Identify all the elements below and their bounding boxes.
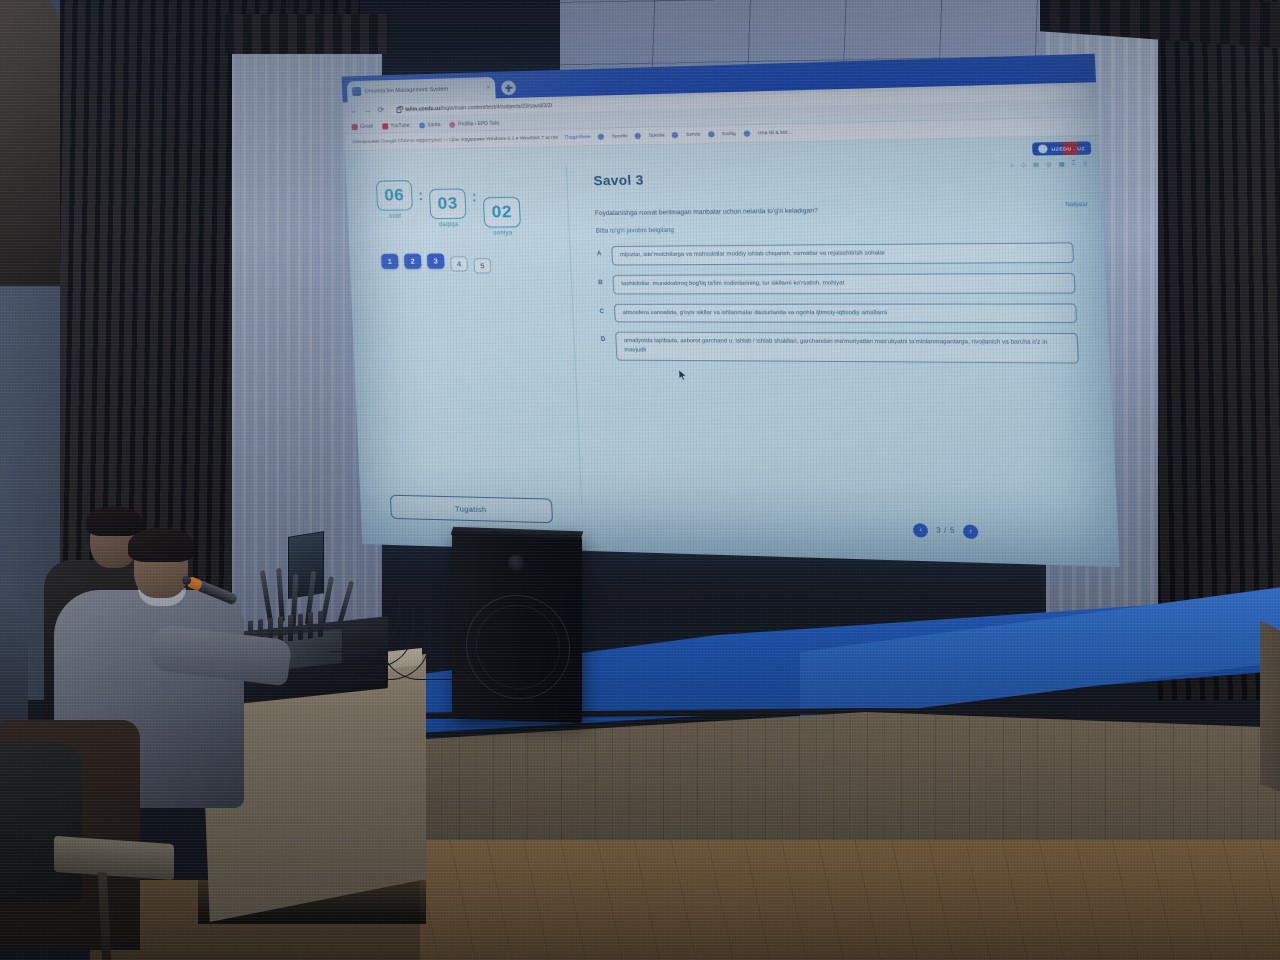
fader: [308, 612, 313, 639]
xarita-icon: [419, 122, 425, 128]
bell-icon[interactable]: ◇: [1021, 162, 1026, 169]
stage-right-return: [1260, 604, 1280, 814]
person-behind-hair: [86, 506, 142, 536]
option-key: B: [598, 275, 605, 286]
fader: [318, 611, 323, 638]
tab-title: Umumta'lim Management System: [365, 85, 483, 94]
quiz-sidebar: 06 soat : 03 daqiqa : 02 soniya: [345, 147, 583, 551]
user-icon[interactable]: ◎: [1046, 161, 1052, 168]
bookmark-label: YouTube: [390, 122, 410, 128]
question-pagination: ‹ 3 / 5 ›: [913, 523, 978, 539]
timer-minutes: 03 daqiqa: [429, 188, 467, 228]
timer-seconds-label: soniya: [493, 230, 512, 236]
results-link[interactable]: Natijalar: [1065, 202, 1088, 209]
bookmark-label: Gmail: [360, 123, 373, 129]
grid-icon[interactable]: ▦: [1059, 161, 1065, 168]
question-navigator: 1 2 3 4 5: [381, 252, 571, 273]
question-nav-2[interactable]: 2: [404, 254, 422, 269]
prev-question-button[interactable]: ‹: [913, 523, 928, 537]
browser-tab[interactable]: Umumta'lim Management System ×: [347, 77, 496, 102]
bookmark-extra-icon: [635, 133, 642, 139]
question-nav-4[interactable]: 4: [450, 256, 468, 271]
back-icon[interactable]: ←: [350, 107, 358, 115]
question-text: Foydalanishga ruxsat berilmagan manbalar…: [595, 203, 1060, 218]
infobar-link[interactable]: Подробнее: [565, 134, 591, 140]
close-icon[interactable]: ×: [486, 85, 490, 91]
timer-seconds: 02 soniya: [483, 197, 522, 237]
youtube-icon: [382, 123, 388, 129]
bookmark-label: Prolfila i EPD Tahr.: [458, 120, 501, 127]
bookmark-maps[interactable]: Xarita: [419, 122, 441, 129]
auditorium-scene: Umumta'lim Management System × ← → ⟳ tal…: [0, 0, 1280, 960]
question-hint: Bitta to'g'ri javobni belgilang: [596, 224, 1073, 235]
option-c[interactable]: C atmosfera sanoatida, g'oyiv sikllar va…: [599, 303, 1077, 323]
pa-speaker: [452, 531, 582, 724]
curtain-valance-left: [225, 14, 390, 54]
fader: [298, 613, 303, 640]
question-nav-1[interactable]: 1: [381, 254, 399, 269]
bookmark-extra-icon: [598, 134, 605, 140]
bookmark-label: Xarita: [427, 122, 440, 128]
page-toolbar: ⌂ ◇ ▤ ◎ ▦ ⌶ ⇩: [1010, 160, 1088, 169]
gmail-icon: [352, 124, 358, 130]
profile-icon: [449, 121, 455, 127]
infobar-extra[interactable]: Sportiv: [612, 134, 628, 140]
foreground-object: [0, 742, 82, 902]
option-a[interactable]: A mijozlar, iste'molchilarga va mahsulot…: [597, 243, 1075, 266]
question-panel: UZEDU . UZ ⌂ ◇ ▤ ◎ ▦ ⌶ ⇩ Natijalar Savol…: [565, 136, 1120, 567]
timer-hours-value: 06: [376, 180, 413, 211]
brand-text: UZEDU . UZ: [1051, 145, 1085, 151]
mic-stand: [260, 570, 273, 624]
brand-logo-icon: [1038, 144, 1048, 153]
timer-separator: :: [418, 187, 424, 204]
projection-screen: Umumta'lim Management System × ← → ⟳ tal…: [342, 54, 1120, 567]
mouse-cursor: [678, 369, 687, 381]
timer-hours-label: soat: [389, 213, 401, 219]
favicon-icon: [352, 87, 361, 96]
projected-browser-window: Umumta'lim Management System × ← → ⟳ tal…: [342, 54, 1120, 567]
wooden-floor: [330, 840, 1280, 960]
infobar-extra[interactable]: Ona tili & kor…: [757, 130, 793, 136]
option-d[interactable]: D amaliyotda tajribada, axborot garchand…: [600, 332, 1079, 363]
forward-icon[interactable]: →: [364, 107, 372, 115]
timer-seconds-value: 02: [483, 197, 521, 228]
home-icon[interactable]: ⌂: [1010, 162, 1014, 169]
url-text: talim.uzedu.uz/login/main-content/test/4…: [405, 103, 553, 113]
mic-stand: [276, 568, 285, 622]
timer-minutes-label: daqiqa: [439, 222, 459, 228]
new-tab-button[interactable]: [501, 80, 516, 95]
fader: [288, 615, 293, 642]
pagination-counter: 3 / 5: [936, 527, 955, 535]
option-text[interactable]: tashkilotlar, murakkabroq bog'liq ta'lim…: [613, 273, 1076, 294]
next-question-button[interactable]: ›: [963, 525, 979, 539]
option-key: A: [597, 246, 604, 257]
bookmark-extra-icon: [708, 131, 715, 137]
download-icon[interactable]: ⇩: [1083, 161, 1089, 168]
person-front-hair: [128, 528, 194, 562]
bookmark-profile[interactable]: Prolfila i EPD Tahr.: [449, 120, 500, 127]
countdown-timer: 06 soat : 03 daqiqa : 02 soniya: [376, 178, 569, 238]
option-text[interactable]: amaliyotda tajribada, axborot garchand u…: [615, 332, 1079, 363]
bookmark-extra-icon: [672, 132, 679, 138]
book-icon[interactable]: ▤: [1033, 162, 1039, 169]
chart-icon[interactable]: ⌶: [1072, 160, 1076, 168]
url-host: talim.uzedu.uz: [405, 106, 441, 113]
site-brand-badge: UZEDU . UZ: [1032, 141, 1091, 155]
question-nav-5[interactable]: 5: [473, 258, 491, 273]
infobar-extra[interactable]: Sozlig: [722, 131, 736, 137]
option-text[interactable]: mijozlar, iste'molchilarga va mahsulotla…: [611, 243, 1074, 266]
option-b[interactable]: B tashkilotlar, murakkabroq bog'liq ta'l…: [598, 273, 1076, 294]
bookmark-extra-icon: [743, 130, 750, 136]
question-title: Savol 3: [593, 165, 1070, 189]
question-nav-3[interactable]: 3: [427, 253, 445, 268]
infobar-text: Обновление Google Chrome недоступно — ср…: [352, 135, 558, 145]
speaker-tweeter: [508, 555, 524, 572]
timer-hours: 06 soat: [376, 180, 414, 220]
option-key: C: [599, 303, 606, 314]
quiz-page: 06 soat : 03 daqiqa : 02 soniya: [345, 136, 1120, 567]
option-text[interactable]: atmosfera sanoatida, g'oyiv sikllar va i…: [614, 303, 1077, 323]
finish-button[interactable]: Tugatish: [390, 495, 553, 523]
reload-icon[interactable]: ⟳: [377, 106, 384, 114]
bookmark-gmail[interactable]: Gmail: [352, 123, 374, 130]
timer-separator: :: [471, 188, 477, 205]
timer-minutes-value: 03: [429, 188, 467, 219]
infobar-extra[interactable]: Servis: [686, 132, 701, 138]
bookmark-youtube[interactable]: YouTube: [382, 122, 410, 129]
option-key: D: [600, 332, 607, 343]
lock-icon: [396, 107, 401, 113]
url-path: /login/main-content/test/4/subjects/23/s…: [441, 103, 553, 112]
answer-options: A mijozlar, iste'molchilarga va mahsulot…: [597, 243, 1080, 364]
infobar-extra[interactable]: Spedia: [649, 133, 665, 139]
